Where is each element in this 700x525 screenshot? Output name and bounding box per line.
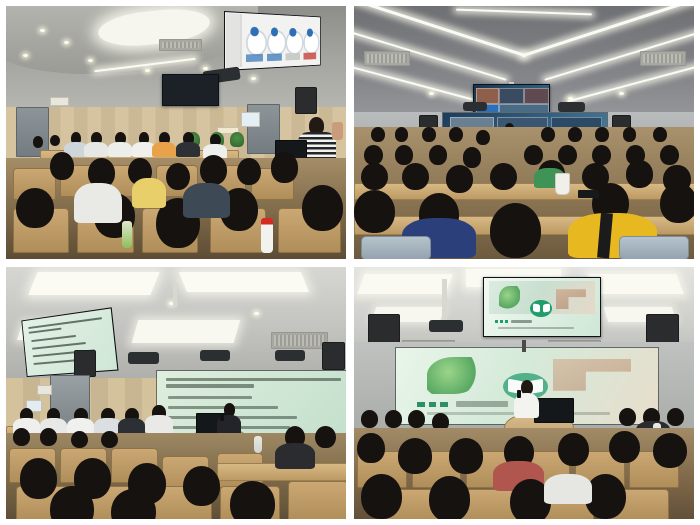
air-vent bbox=[159, 39, 202, 51]
ceiling-light-panel bbox=[179, 272, 310, 292]
audience-head bbox=[40, 428, 57, 446]
audience-head bbox=[476, 130, 490, 145]
slide-caption-block bbox=[285, 53, 299, 61]
downlight bbox=[619, 92, 624, 95]
wall-display-top-left bbox=[224, 11, 321, 71]
accent-square bbox=[417, 402, 425, 407]
ring-badge bbox=[250, 27, 258, 37]
audience-head bbox=[667, 408, 684, 426]
wall-speaker bbox=[74, 350, 96, 377]
seat-back bbox=[288, 481, 346, 519]
audience-head bbox=[354, 190, 395, 233]
speaker-arm bbox=[332, 122, 342, 140]
slide-heading-line bbox=[166, 378, 341, 381]
potted-plant bbox=[230, 132, 244, 147]
audience-head bbox=[429, 145, 448, 165]
audience-head bbox=[626, 160, 653, 188]
drink-bottle-green bbox=[122, 221, 132, 249]
downlight bbox=[203, 67, 208, 70]
audience-head bbox=[271, 152, 298, 182]
open-book-icon bbox=[530, 300, 552, 317]
audience-head bbox=[398, 438, 432, 473]
audience-body bbox=[275, 443, 316, 468]
audience-head bbox=[449, 438, 483, 473]
water-bottle-red-cap bbox=[261, 218, 273, 253]
collage-tile bbox=[499, 88, 523, 104]
downlight bbox=[429, 92, 434, 95]
slide-bullet-line bbox=[31, 335, 76, 342]
audience-head bbox=[101, 431, 118, 449]
audience-head bbox=[200, 155, 227, 185]
ceiling-light-panel bbox=[588, 274, 684, 294]
photo-bottom-right bbox=[354, 267, 694, 520]
ceiling-projector bbox=[275, 350, 306, 361]
audience-head bbox=[660, 183, 694, 223]
audience-head bbox=[402, 163, 429, 191]
audience-head bbox=[230, 481, 274, 519]
audience-head bbox=[449, 127, 463, 142]
overhead-monitor-bottom-left bbox=[21, 308, 118, 378]
panelist-body bbox=[145, 415, 172, 433]
slide-sidebar bbox=[226, 13, 242, 67]
audience-head bbox=[490, 163, 517, 191]
podium-monitor bbox=[534, 398, 573, 423]
downlight bbox=[23, 54, 28, 57]
audience-head bbox=[429, 476, 470, 519]
slide-goal-setting bbox=[484, 278, 600, 336]
audience-head bbox=[568, 127, 582, 142]
plant-graphic bbox=[427, 357, 479, 393]
downlight bbox=[88, 59, 93, 62]
audience-head bbox=[653, 433, 687, 468]
panelist-body bbox=[152, 142, 176, 157]
microphone bbox=[220, 413, 224, 421]
audience-head bbox=[361, 410, 378, 428]
ceiling-projector bbox=[429, 320, 463, 333]
slide-title-line bbox=[511, 320, 532, 323]
audience-head bbox=[558, 145, 577, 165]
audience-head bbox=[408, 410, 425, 428]
seat-cushion bbox=[619, 236, 689, 259]
projector-mount-pole bbox=[173, 284, 178, 307]
slide-caption-block bbox=[266, 53, 281, 61]
audience-head bbox=[166, 163, 190, 191]
accent-square bbox=[505, 320, 508, 323]
slide-caption-block bbox=[303, 53, 316, 60]
slide-caption-block bbox=[246, 54, 263, 62]
center-wall-monitor bbox=[162, 74, 218, 106]
audience-head bbox=[357, 433, 384, 463]
audience-head bbox=[541, 127, 555, 142]
audience-head bbox=[361, 474, 402, 519]
panelist-body bbox=[176, 142, 200, 157]
audience-head bbox=[558, 433, 589, 466]
audience-head bbox=[237, 158, 261, 186]
paper-coffee-cup bbox=[555, 173, 571, 195]
ring-badge bbox=[289, 28, 296, 37]
audience-head bbox=[660, 145, 679, 165]
slide-heading-line bbox=[28, 328, 62, 335]
audience-head bbox=[20, 458, 57, 498]
photo-collage bbox=[0, 0, 700, 525]
audience-body bbox=[183, 183, 231, 218]
wall-speaker bbox=[368, 314, 401, 344]
slide-heading-line bbox=[166, 384, 254, 387]
downlight bbox=[40, 29, 45, 32]
accent-square bbox=[495, 320, 498, 323]
audience-head bbox=[623, 127, 637, 142]
panelist-body bbox=[84, 142, 108, 157]
audience-body bbox=[74, 183, 122, 223]
slide-bullet-line bbox=[168, 396, 252, 399]
ceiling-light-panel bbox=[357, 274, 453, 294]
ring-badge bbox=[270, 27, 278, 37]
plant-graphic bbox=[499, 286, 520, 309]
audience-head bbox=[385, 410, 402, 428]
water-bottle bbox=[254, 436, 262, 454]
slide-title-line bbox=[456, 401, 508, 406]
hanging-microphone bbox=[522, 340, 525, 353]
projector-mount-pole bbox=[442, 279, 447, 322]
audience-head bbox=[361, 163, 388, 191]
audience-head bbox=[183, 466, 220, 506]
photo-top-right bbox=[354, 6, 694, 259]
wall-speaker bbox=[646, 314, 679, 344]
collage-tile bbox=[524, 88, 548, 104]
ceiling-light-panel bbox=[132, 320, 241, 343]
audience-head bbox=[619, 408, 636, 426]
panelist-body bbox=[108, 142, 132, 157]
wall-speaker bbox=[322, 342, 344, 369]
audience-head bbox=[490, 203, 541, 259]
slide-heading-line bbox=[27, 318, 101, 330]
audience-head bbox=[524, 145, 543, 165]
photo-bottom-left bbox=[6, 267, 346, 520]
audience-head bbox=[315, 426, 335, 449]
smartphone bbox=[578, 190, 598, 198]
accent-square bbox=[440, 402, 448, 407]
ring-badge bbox=[306, 28, 313, 37]
mirrored-slide bbox=[22, 309, 117, 377]
wall-notice bbox=[241, 112, 260, 127]
photo-top-left bbox=[6, 6, 346, 259]
stair-graphic bbox=[553, 359, 632, 391]
air-vent bbox=[640, 51, 686, 66]
slide-subtitle-line bbox=[498, 327, 574, 329]
ceiling-light-panel bbox=[29, 272, 161, 295]
accent-square bbox=[500, 320, 503, 323]
audience-head bbox=[16, 188, 53, 228]
audience-head bbox=[422, 127, 436, 142]
seat-cushion bbox=[361, 236, 431, 259]
air-vent bbox=[271, 332, 327, 349]
audience-head bbox=[371, 127, 385, 142]
downlight bbox=[568, 97, 573, 100]
ceiling-projector bbox=[463, 102, 487, 111]
exit-sign bbox=[50, 97, 69, 107]
audience-head bbox=[395, 145, 414, 165]
microphone bbox=[517, 390, 521, 398]
audience-head bbox=[463, 147, 482, 167]
audience-head bbox=[13, 428, 30, 446]
accent-square bbox=[429, 402, 437, 407]
slide-bullet-line bbox=[32, 342, 86, 349]
slide-infographic bbox=[225, 12, 320, 70]
air-vent bbox=[364, 51, 410, 66]
audience-body-white bbox=[544, 474, 592, 504]
audience-head bbox=[71, 431, 88, 449]
audience-head bbox=[653, 127, 667, 142]
audience-head bbox=[446, 165, 473, 193]
audience-head bbox=[302, 185, 343, 230]
panelist-head bbox=[33, 136, 43, 148]
audience-body bbox=[132, 178, 166, 208]
wall-speaker bbox=[295, 87, 317, 114]
ceiling-projector bbox=[128, 352, 159, 363]
ceiling-projector bbox=[558, 102, 585, 112]
audience-head bbox=[595, 127, 609, 142]
audience-head bbox=[609, 431, 640, 464]
overhead-screen-bottom-right bbox=[483, 277, 601, 337]
exit-sign bbox=[37, 385, 53, 395]
ceiling-projector bbox=[200, 350, 231, 361]
downlight bbox=[251, 77, 256, 80]
audience-head bbox=[50, 152, 74, 180]
